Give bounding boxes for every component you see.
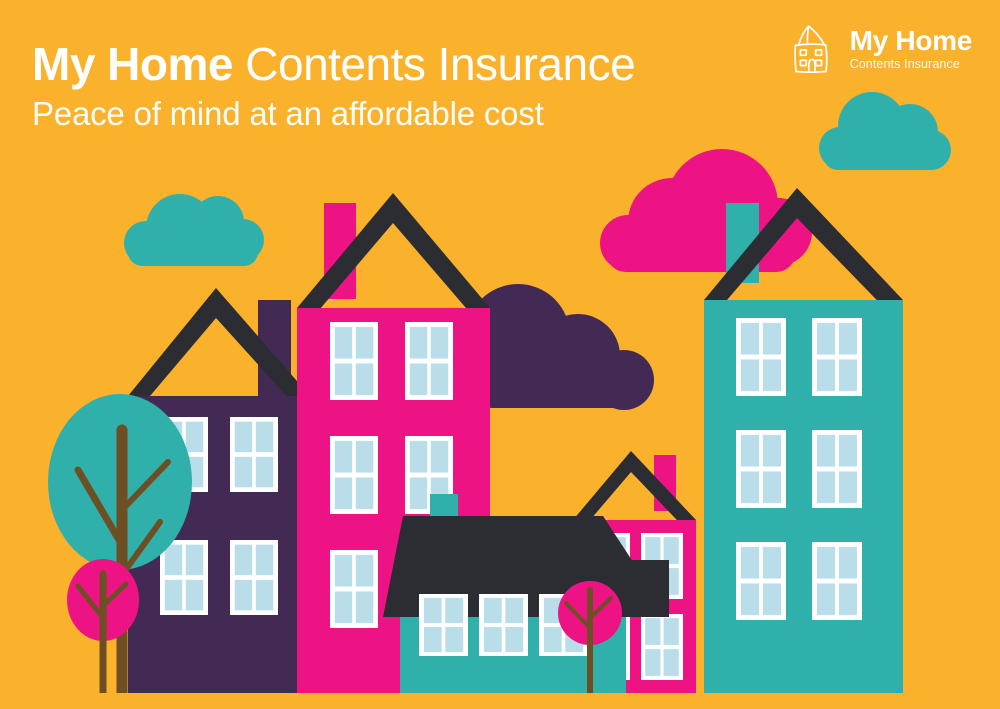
window	[812, 542, 862, 620]
house-outline-icon	[786, 22, 840, 76]
logo-subtitle: Contents Insurance	[850, 58, 972, 71]
insurance-banner: My Home Contents Insurance Peace of mind…	[0, 0, 1000, 709]
window	[405, 322, 453, 400]
window	[419, 594, 468, 656]
window	[812, 318, 862, 396]
window	[330, 550, 378, 628]
ground-strip	[0, 693, 1000, 709]
logo-text-block: My Home Contents Insurance	[850, 27, 972, 71]
window	[230, 540, 278, 615]
brand-logo[interactable]: My Home Contents Insurance	[786, 22, 972, 76]
window	[736, 542, 786, 620]
window	[160, 540, 208, 615]
window	[641, 614, 683, 680]
scene-svg	[0, 0, 1000, 709]
window	[330, 436, 378, 514]
window	[479, 594, 528, 656]
window	[812, 430, 862, 508]
window	[330, 322, 378, 400]
cityscape-illustration	[0, 0, 1000, 709]
body	[704, 300, 903, 693]
window	[736, 318, 786, 396]
window	[230, 417, 278, 492]
logo-title: My Home	[850, 27, 972, 55]
window	[736, 430, 786, 508]
